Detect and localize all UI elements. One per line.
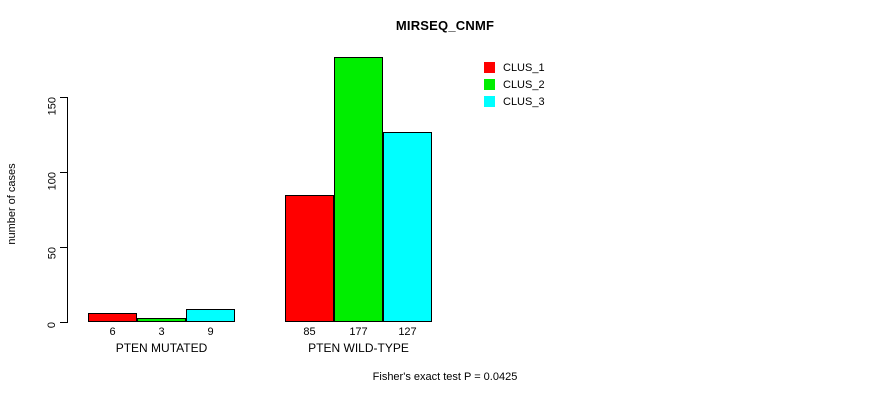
y-axis-tick-label-wrap: 0 (0, 316, 52, 328)
y-axis-tick-label: 150 (46, 97, 58, 115)
bar (137, 318, 186, 323)
bar-value-label: 85 (285, 326, 334, 338)
y-axis-tick-label: 100 (46, 172, 58, 190)
bar-value-label: 6 (88, 326, 137, 338)
legend: CLUS_1CLUS_2CLUS_3 (483, 59, 545, 110)
legend-label: CLUS_1 (503, 62, 545, 74)
legend-item: CLUS_2 (483, 76, 545, 93)
legend-label: CLUS_3 (503, 96, 545, 108)
y-axis-tick (60, 172, 67, 173)
group-label: PTEN WILD-TYPE (285, 341, 432, 355)
legend-label: CLUS_2 (503, 79, 545, 91)
y-axis-tick-label: 0 (46, 322, 58, 328)
legend-item: CLUS_1 (483, 59, 545, 76)
y-axis-tick-label: 50 (46, 247, 58, 259)
y-axis-tick (60, 97, 67, 98)
bar (383, 132, 432, 323)
bar (186, 309, 235, 323)
y-axis-tick (60, 322, 67, 323)
chart-title: MIRSEQ_CNMF (0, 18, 890, 33)
bar (334, 57, 383, 323)
y-axis-tick-label-wrap: 150 (0, 91, 52, 103)
bar (285, 195, 334, 323)
group-label: PTEN MUTATED (88, 341, 235, 355)
legend-swatch-icon (483, 95, 496, 108)
bar-value-label: 177 (334, 326, 383, 338)
legend-swatch-icon (483, 78, 496, 91)
bar (88, 313, 137, 322)
bar-value-label: 9 (186, 326, 235, 338)
legend-item: CLUS_3 (483, 93, 545, 110)
y-axis-tick (60, 247, 67, 248)
bar-value-label: 127 (383, 326, 432, 338)
statistic-annotation: Fisher's exact test P = 0.0425 (0, 371, 890, 383)
plot-area (68, 97, 450, 322)
bar-value-label: 3 (137, 326, 186, 338)
y-axis-label: number of cases (6, 144, 18, 264)
chart-canvas: MIRSEQ_CNMF 050100150 number of cases 63… (0, 0, 890, 400)
legend-swatch-icon (483, 61, 496, 74)
